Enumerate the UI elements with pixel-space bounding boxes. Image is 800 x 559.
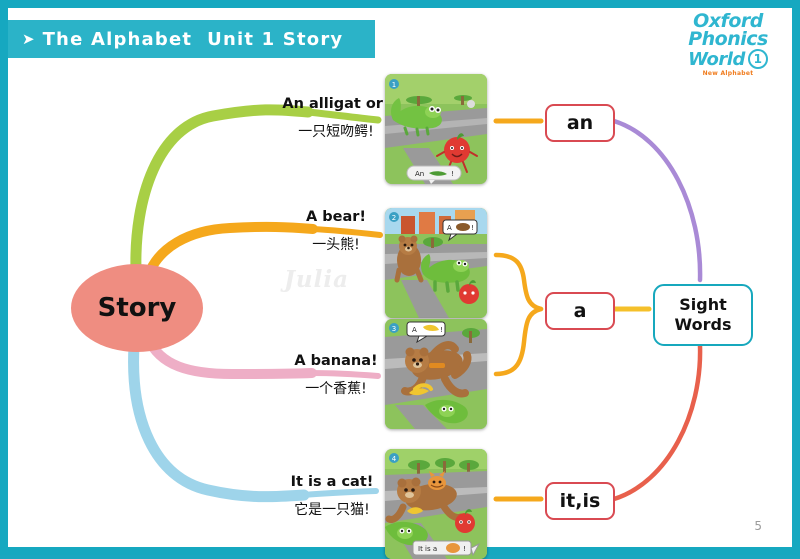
svg-text:A: A	[447, 224, 452, 232]
sight-word-box-it-is[interactable]: it,is	[545, 482, 615, 520]
story-card-alligator[interactable]: An ! 1	[385, 74, 487, 184]
story-card-banana[interactable]: A ! 3	[385, 319, 487, 429]
central-node-label: Story	[98, 293, 177, 323]
central-node-story[interactable]: Story	[71, 264, 203, 352]
sight-words-line-1: Sight	[679, 295, 727, 315]
story-illustration-banana: A ! 3	[385, 319, 487, 429]
slide-content-area: ➤ The Alphabet Unit 1 Story Oxford Phoni…	[8, 8, 792, 547]
svg-text:!: !	[440, 326, 443, 334]
connector-card-bear-to-a	[496, 255, 541, 309]
sight-word-label: a	[574, 300, 587, 322]
sight-word-label: an	[567, 112, 593, 134]
svg-text:!: !	[451, 170, 454, 178]
svg-text:3: 3	[392, 325, 396, 333]
story-illustration-bear: A ! 2	[385, 208, 487, 318]
sight-words-line-2: Words	[675, 315, 732, 335]
sight-word-box-an[interactable]: an	[545, 104, 615, 142]
curve-it-is-to-sight-words	[614, 346, 700, 499]
story-illustration-cat: It is a ! 4	[385, 449, 487, 559]
story-card-bear[interactable]: A ! 2	[385, 208, 487, 318]
svg-text:2: 2	[392, 214, 396, 222]
svg-text:1: 1	[392, 81, 396, 89]
slide-page: ➤ The Alphabet Unit 1 Story Oxford Phoni…	[0, 0, 800, 555]
connector-card-banana-to-a	[496, 309, 541, 374]
sight-words-node[interactable]: Sight Words	[653, 284, 753, 346]
story-card-cat[interactable]: It is a ! 4	[385, 449, 487, 559]
sight-word-box-a[interactable]: a	[545, 292, 615, 330]
curve-an-to-sight-words	[614, 121, 700, 280]
svg-text:An: An	[415, 170, 424, 178]
svg-text:!: !	[463, 545, 466, 553]
story-illustration-alligator: An ! 1	[385, 74, 487, 184]
svg-text:4: 4	[392, 455, 397, 463]
svg-text:!: !	[471, 224, 474, 232]
page-number: 5	[754, 519, 762, 533]
svg-text:A: A	[412, 326, 417, 334]
svg-text:It is a: It is a	[418, 545, 437, 553]
sight-word-label: it,is	[560, 490, 601, 512]
